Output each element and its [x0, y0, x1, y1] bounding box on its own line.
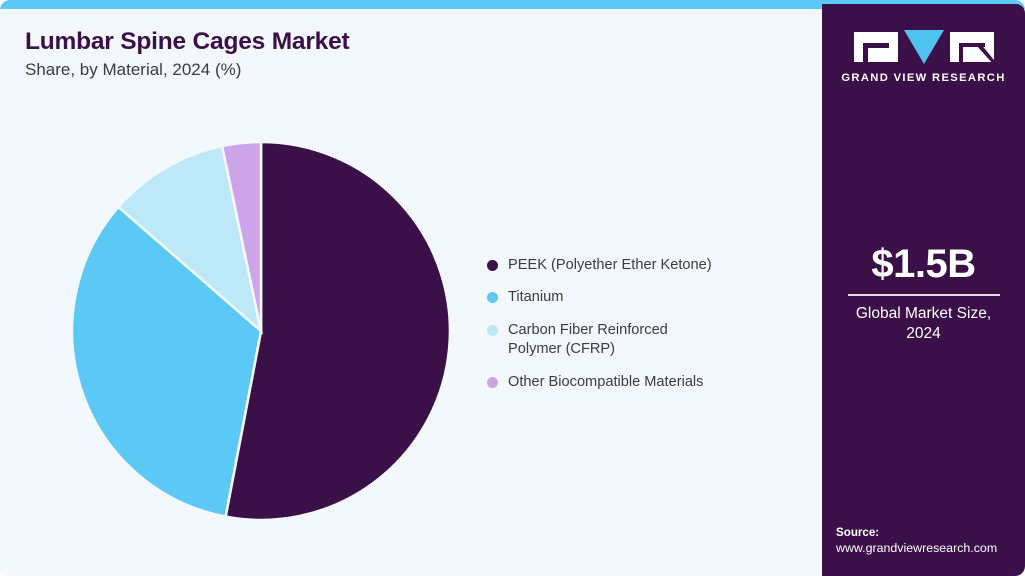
page-title: Lumbar Spine Cages Market [25, 28, 349, 56]
legend-color-swatch [487, 260, 498, 271]
legend-item-label: Carbon Fiber Reinforced Polymer (CFRP) [508, 321, 718, 360]
brand-logo: GRAND VIEW RESEARCH [822, 30, 1025, 84]
chart-card: Lumbar Spine Cages Market Share, by Mate… [0, 0, 1025, 576]
market-size-stat: $1.5B Global Market Size, 2024 [822, 242, 1025, 345]
logo-wordmark: GRAND VIEW RESEARCH [841, 72, 1005, 84]
legend-item[interactable]: Titanium [487, 288, 807, 307]
stat-value: $1.5B [822, 242, 1025, 287]
logo-v-triangle-icon [904, 30, 944, 64]
stat-divider [848, 294, 1000, 296]
legend-item-label: Titanium [508, 288, 563, 307]
stat-caption: Global Market Size, 2024 [822, 304, 1025, 346]
brand-sidebar: GRAND VIEW RESEARCH $1.5B Global Market … [822, 4, 1025, 576]
source-url: www.grandviewresearch.com [836, 541, 1017, 555]
logo-marks [854, 30, 994, 64]
legend-color-swatch [487, 325, 498, 336]
legend-color-swatch [487, 292, 498, 303]
legend-item[interactable]: Other Biocompatible Materials [487, 373, 807, 392]
source-block: Source: www.grandviewresearch.com [836, 526, 1017, 555]
legend-item[interactable]: Carbon Fiber Reinforced Polymer (CFRP) [487, 321, 807, 360]
source-label: Source: [836, 526, 1017, 539]
logo-r-icon [950, 32, 994, 62]
chart-legend: PEEK (Polyether Ether Ketone)TitaniumCar… [487, 256, 807, 405]
page-subtitle: Share, by Material, 2024 (%) [25, 60, 241, 80]
pie-chart [60, 130, 470, 540]
legend-item-label: PEEK (Polyether Ether Ketone) [508, 256, 712, 275]
logo-g-icon [854, 32, 898, 62]
legend-item-label: Other Biocompatible Materials [508, 373, 703, 392]
pie-chart-svg [60, 130, 470, 540]
legend-item[interactable]: PEEK (Polyether Ether Ketone) [487, 256, 807, 275]
legend-color-swatch [487, 377, 498, 388]
